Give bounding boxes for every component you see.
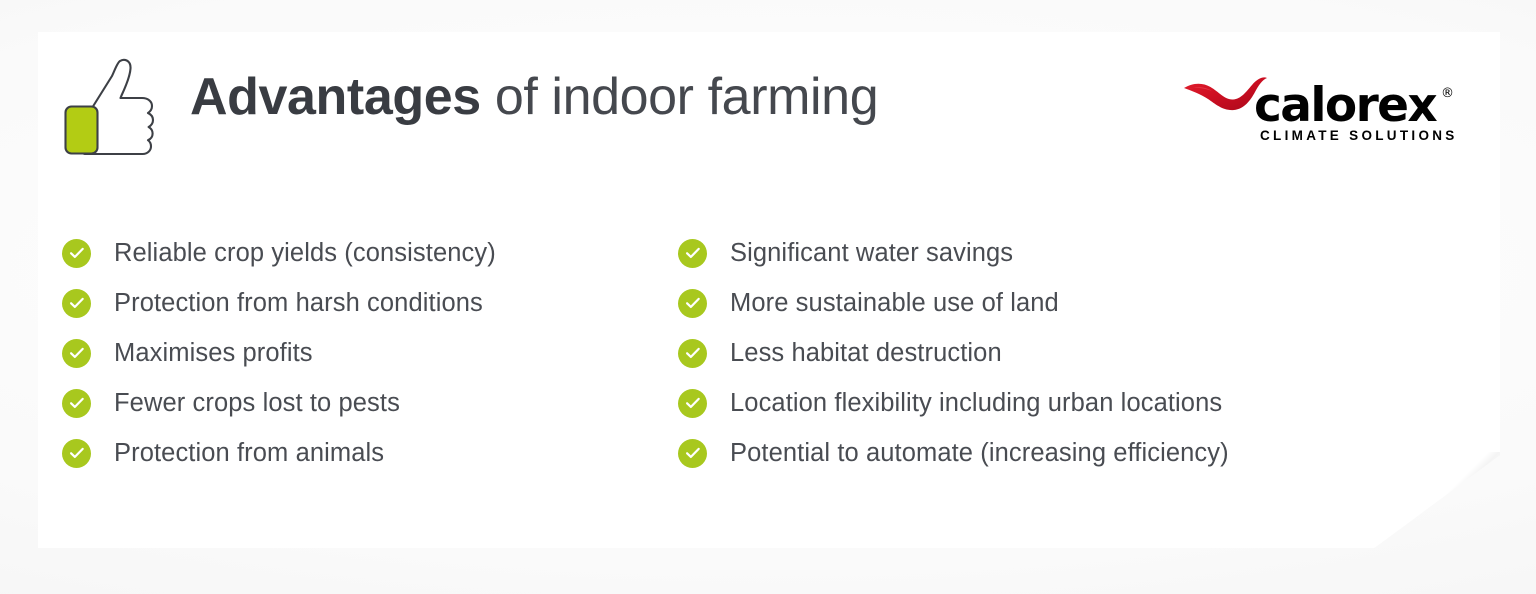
- logo-wordmark: calorex: [1254, 82, 1436, 129]
- list-item: Potential to automate (increasing effici…: [678, 428, 1490, 478]
- list-item: Less habitat destruction: [678, 328, 1490, 378]
- benefits-columns: Reliable crop yields (consistency) Prote…: [62, 228, 1490, 478]
- page-background: Advantages of indoor farming calorex: [0, 0, 1536, 594]
- check-circle-icon: [678, 289, 707, 318]
- list-item-label: Less habitat destruction: [730, 339, 1002, 368]
- list-item: Maximises profits: [62, 328, 678, 378]
- benefits-right-column: Significant water savings More sustainab…: [678, 228, 1490, 478]
- check-circle-icon: [62, 289, 91, 318]
- thumbs-up-icon: [62, 50, 166, 160]
- list-item: Protection from animals: [62, 428, 678, 478]
- check-circle-icon: [678, 389, 707, 418]
- check-circle-icon: [678, 439, 707, 468]
- check-circle-icon: [62, 439, 91, 468]
- list-item-label: Protection from animals: [114, 439, 384, 468]
- check-circle-icon: [62, 339, 91, 368]
- registered-trademark-icon: ®: [1441, 86, 1454, 101]
- check-circle-icon: [678, 239, 707, 268]
- list-item-label: Protection from harsh conditions: [114, 289, 483, 318]
- list-item: Protection from harsh conditions: [62, 278, 678, 328]
- check-circle-icon: [62, 239, 91, 268]
- list-item: Significant water savings: [678, 228, 1490, 278]
- list-item: Location flexibility including urban loc…: [678, 378, 1490, 428]
- benefits-left-column: Reliable crop yields (consistency) Prote…: [62, 228, 678, 478]
- page-title-strong: Advantages: [190, 68, 481, 126]
- list-item-label: Fewer crops lost to pests: [114, 389, 400, 418]
- logo-tagline: CLIMATE SOLUTIONS: [1260, 128, 1458, 143]
- list-item-label: Significant water savings: [730, 239, 1013, 268]
- check-circle-icon: [678, 339, 707, 368]
- list-item: Fewer crops lost to pests: [62, 378, 678, 428]
- list-item-label: More sustainable use of land: [730, 289, 1059, 318]
- page-title: Advantages of indoor farming: [190, 70, 878, 125]
- card-header: Advantages of indoor farming calorex: [62, 48, 1496, 178]
- list-item-label: Reliable crop yields (consistency): [114, 239, 496, 268]
- list-item-label: Potential to automate (increasing effici…: [730, 439, 1229, 468]
- list-item: Reliable crop yields (consistency): [62, 228, 678, 278]
- page-title-rest: of indoor farming: [481, 68, 878, 126]
- check-circle-icon: [62, 389, 91, 418]
- list-item-label: Maximises profits: [114, 339, 313, 368]
- calorex-logo[interactable]: calorex ® CLIMATE SOLUTIONS: [1182, 74, 1454, 152]
- list-item-label: Location flexibility including urban loc…: [730, 389, 1222, 418]
- list-item: More sustainable use of land: [678, 278, 1490, 328]
